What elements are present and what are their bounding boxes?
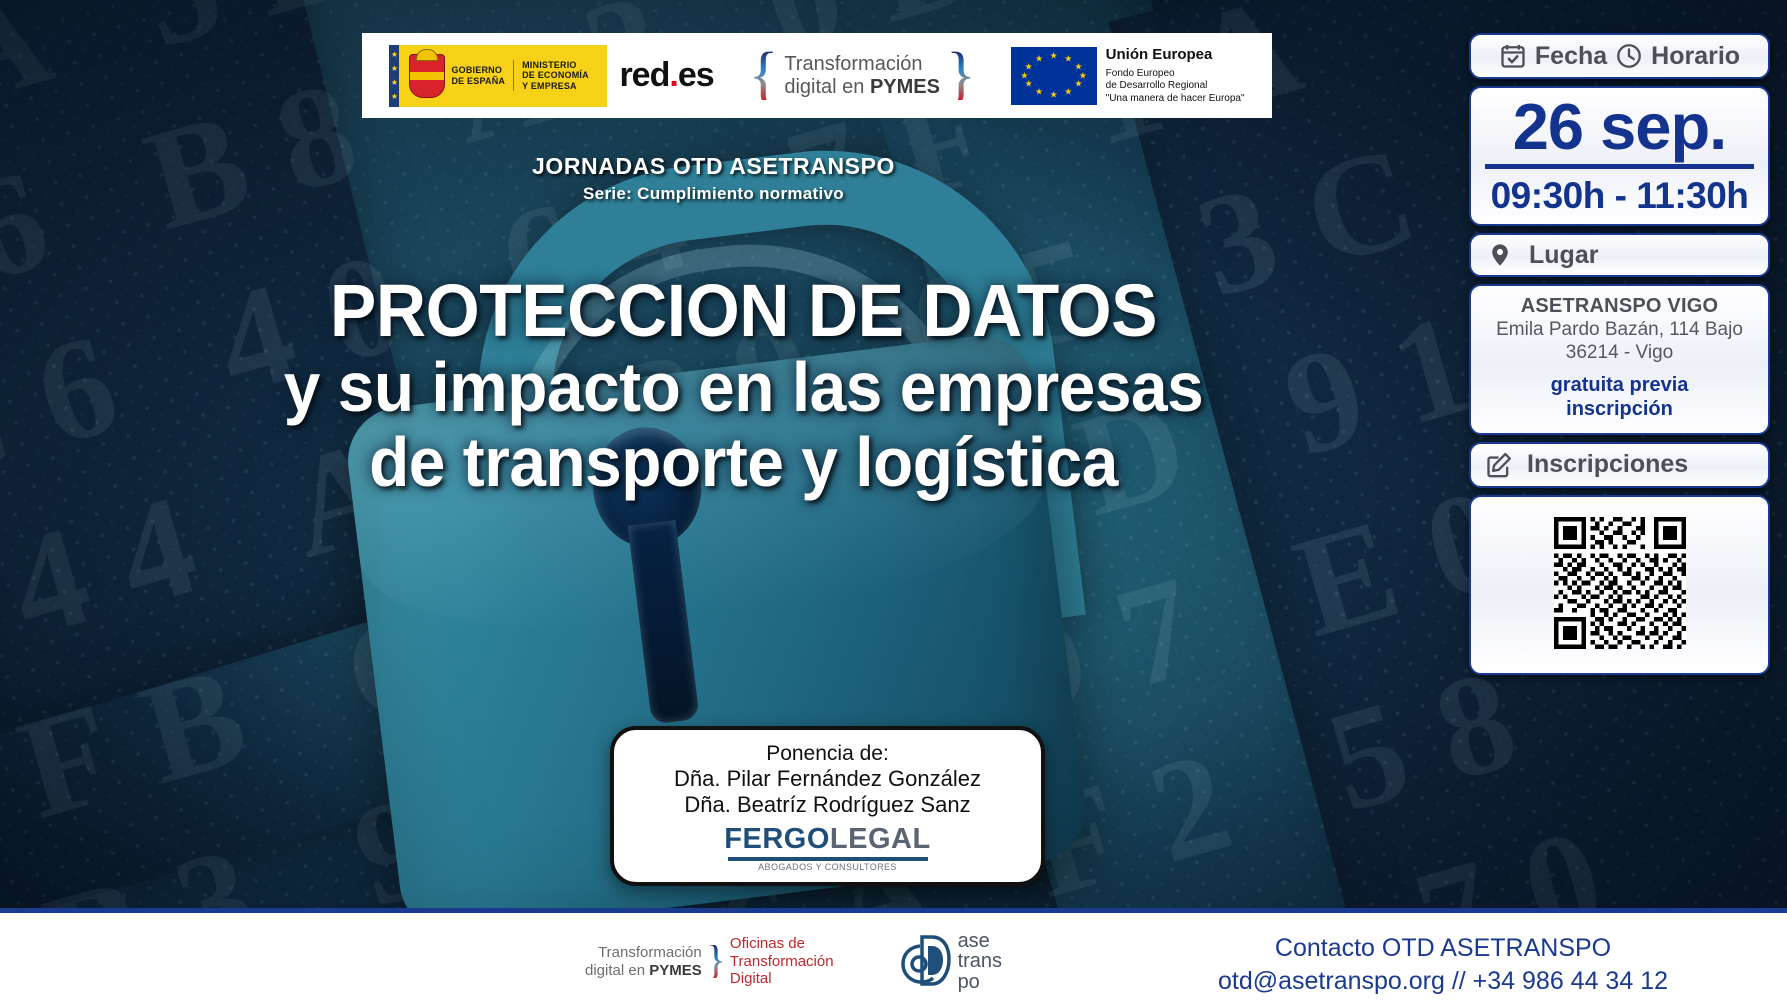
- inscripciones-header: Inscripciones: [1471, 444, 1768, 486]
- venue-city: 36214 - Vigo: [1479, 341, 1760, 364]
- contact-block: Contacto OTD ASETRANSPO otd@asetranspo.o…: [1123, 932, 1763, 997]
- otd-logo-right-text: Oficinas de Transformación Digital: [730, 935, 834, 988]
- transformacion-line2-a: digital en: [784, 76, 870, 98]
- gobierno-line2: DE ESPAÑA: [451, 76, 505, 86]
- lugar-header: Lugar: [1471, 235, 1768, 275]
- asetranspo-mark-icon: [892, 934, 952, 990]
- ase-line1: ase: [958, 931, 1002, 951]
- fergolegal-rule: [728, 857, 928, 861]
- calendar-check-icon: [1499, 42, 1527, 70]
- title-line-2: y su impacto en las empresas: [101, 350, 1386, 424]
- redes-es: es: [678, 56, 714, 94]
- redes-dot: .: [669, 56, 677, 94]
- ase-line3: po: [958, 972, 1002, 992]
- date-divider: [1485, 164, 1754, 169]
- sponsor-logo-bar: ★★★★ GOBIERNO DE ESPAÑA MINISTERIO DE EC…: [362, 33, 1272, 118]
- otd-footer-logo: Transformación digital en PYMES } Oficin…: [585, 935, 834, 988]
- event-kicker: JORNADAS OTD ASETRANSPO: [0, 153, 1427, 180]
- otd-logo-left-text: Transformación digital en PYMES: [585, 944, 702, 979]
- eu-line1: Fondo Europeo: [1106, 68, 1175, 79]
- otd-red-line3: Digital: [730, 970, 834, 988]
- horario-label: Horario: [1651, 44, 1740, 69]
- registration-note: gratuita previa inscripción: [1479, 373, 1760, 421]
- ministerio-line2: DE ECONOMÍA: [522, 70, 589, 80]
- speaker-card: Ponencia de: Dña. Pilar Fernández Gonzál…: [610, 726, 1045, 886]
- otd-pymes: PYMES: [649, 962, 702, 979]
- redes-logo: red.es: [619, 56, 713, 95]
- title-line-3: de transporte y logística: [101, 425, 1386, 499]
- gobierno-de-espana-logo: ★★★★ GOBIERNO DE ESPAÑA MINISTERIO DE EC…: [389, 45, 713, 107]
- contact-title: Contacto OTD ASETRANSPO: [1123, 932, 1763, 965]
- ministerio-text: MINISTERIO DE ECONOMÍA Y EMPRESA: [513, 60, 589, 91]
- venue-name: ASETRANSPO VIGO: [1479, 295, 1760, 318]
- otd-red-line1: Oficinas de: [730, 935, 834, 953]
- inscripciones-label: Inscripciones: [1527, 452, 1688, 477]
- brace-right-icon: }: [946, 51, 976, 101]
- fergolegal-tagline: ABOGADOS Y CONSULTORES: [628, 862, 1027, 872]
- pencil-square-icon: [1485, 451, 1513, 479]
- fecha-label: Fecha: [1535, 44, 1607, 69]
- ministerio-line1: MINISTERIO: [522, 60, 577, 70]
- clock-icon: [1615, 42, 1643, 70]
- otd-line2-a: digital en: [585, 962, 649, 979]
- date-time-value-card: 26 sep. 09:30h - 11:30h: [1469, 86, 1770, 226]
- lugar-header-card: Lugar: [1469, 233, 1770, 277]
- registration-qr-card[interactable]: [1469, 495, 1770, 675]
- union-europea-logo: ★★ ★★ ★★ ★★ ★★ ★★ Unión Europea Fondo Eu…: [1011, 46, 1245, 105]
- date-time-header-card: Fecha Horario: [1469, 33, 1770, 79]
- gobierno-flag-block: ★★★★ GOBIERNO DE ESPAÑA MINISTERIO DE EC…: [389, 45, 607, 107]
- brace-left-icon: {: [749, 51, 779, 101]
- ministerio-line3: Y EMPRESA: [522, 81, 577, 91]
- transformacion-digital-pymes-logo: { Transformación digital en PYMES }: [749, 51, 976, 101]
- asetranspo-logo: ase trans po: [892, 931, 1002, 992]
- fergolegal-logo: FERGOLEGAL ABOGADOS Y CONSULTORES: [628, 823, 1027, 872]
- eu-title: Unión Europea: [1106, 46, 1245, 65]
- fergolegal-part-b: LEGAL: [830, 823, 931, 855]
- transformacion-line2: digital en PYMES: [784, 76, 940, 98]
- brace-icon: }: [706, 945, 726, 978]
- venue-card: ASETRANSPO VIGO Emila Pardo Bazán, 114 B…: [1469, 284, 1770, 434]
- otd-line2: digital en PYMES: [585, 962, 702, 980]
- eu-text: Unión Europea Fondo Europeo de Desarroll…: [1106, 46, 1245, 105]
- event-time: 09:30h - 11:30h: [1481, 177, 1758, 214]
- lugar-label: Lugar: [1529, 243, 1598, 268]
- ase-line2: trans: [958, 951, 1002, 971]
- otd-line1: Transformación: [585, 944, 702, 962]
- flag-stars: ★★★★: [389, 45, 399, 107]
- inscripciones-header-card: Inscripciones: [1469, 442, 1770, 488]
- eu-line2: de Desarrollo Regional: [1106, 80, 1208, 91]
- redes-red: red: [619, 56, 669, 94]
- fergolegal-part-a: FERGO: [724, 823, 830, 855]
- speaker-intro: Ponencia de:: [628, 742, 1027, 766]
- keyhole-slot: [628, 520, 700, 724]
- venue-street: Emila Pardo Bazán, 114 Bajo: [1479, 318, 1760, 341]
- event-poster: D1 4A 5B 7C 2E 9F 26 B8 A3 0D 61 63 C6 4…: [0, 0, 1787, 1005]
- map-pin-icon: [1487, 242, 1513, 268]
- speaker-name-1: Dña. Pilar Fernández González: [628, 766, 1027, 792]
- registration-note-line1: gratuita previa: [1479, 373, 1760, 397]
- gobierno-line1: GOBIERNO: [451, 65, 502, 75]
- speaker-name-2: Dña. Beatríz Rodríguez Sanz: [628, 792, 1027, 818]
- poster-footer: Transformación digital en PYMES } Oficin…: [0, 908, 1787, 1005]
- registration-note-line2: inscripción: [1479, 397, 1760, 421]
- date-time-header: Fecha Horario: [1471, 35, 1768, 77]
- footer-logos: Transformación digital en PYMES } Oficin…: [585, 931, 1002, 992]
- fergolegal-wordmark: FERGOLEGAL: [628, 823, 1027, 856]
- event-date: 26 sep.: [1481, 94, 1758, 160]
- eu-flag-icon: ★★ ★★ ★★ ★★ ★★ ★★: [1011, 47, 1097, 105]
- title-line-1: PROTECCION DE DATOS: [101, 272, 1386, 350]
- event-series-subtitle: Serie: Cumplimiento normativo: [0, 184, 1427, 204]
- otd-red-line2: Transformación: [730, 953, 834, 971]
- transformacion-text: Transformación digital en PYMES: [784, 53, 940, 98]
- asetranspo-wordmark: ase trans po: [958, 931, 1002, 992]
- eu-line3: "Una manera de hacer Europa": [1106, 93, 1245, 104]
- transformacion-line1: Transformación: [784, 53, 940, 75]
- page-title: PROTECCION DE DATOS y su impacto en las …: [101, 272, 1386, 499]
- qr-code[interactable]: [1554, 517, 1686, 649]
- gobierno-text: GOBIERNO DE ESPAÑA: [451, 65, 505, 86]
- coat-of-arms-icon: [409, 54, 445, 98]
- transformacion-pymes: PYMES: [870, 76, 940, 98]
- contact-details[interactable]: otd@asetranspo.org // +34 986 44 34 12: [1123, 965, 1763, 998]
- info-column: Fecha Horario 26 sep. 09:30h - 11:30h: [1469, 33, 1770, 675]
